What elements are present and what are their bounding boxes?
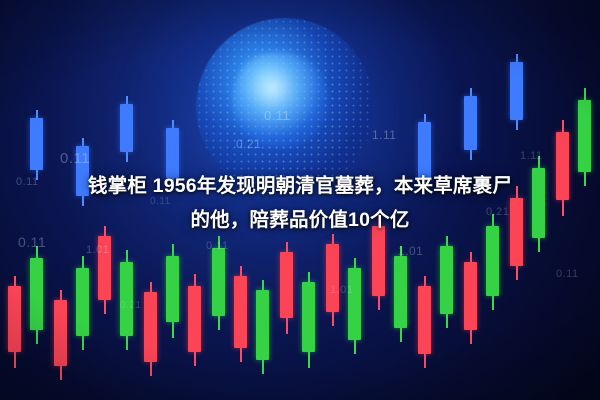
banner-image: 0.111.110.210.110.110.111.010.111.010.21… xyxy=(0,0,600,400)
caption-text: 钱掌柜 1956年发现明朝清官墓葬，本来草席裹尸 的他，陪葬品价值10个亿 xyxy=(0,163,600,247)
caption-line-1: 钱掌柜 1956年发现明朝清官墓葬，本来草席裹尸 xyxy=(14,169,586,203)
caption-line-2: 的他，陪葬品价值10个亿 xyxy=(14,203,586,237)
